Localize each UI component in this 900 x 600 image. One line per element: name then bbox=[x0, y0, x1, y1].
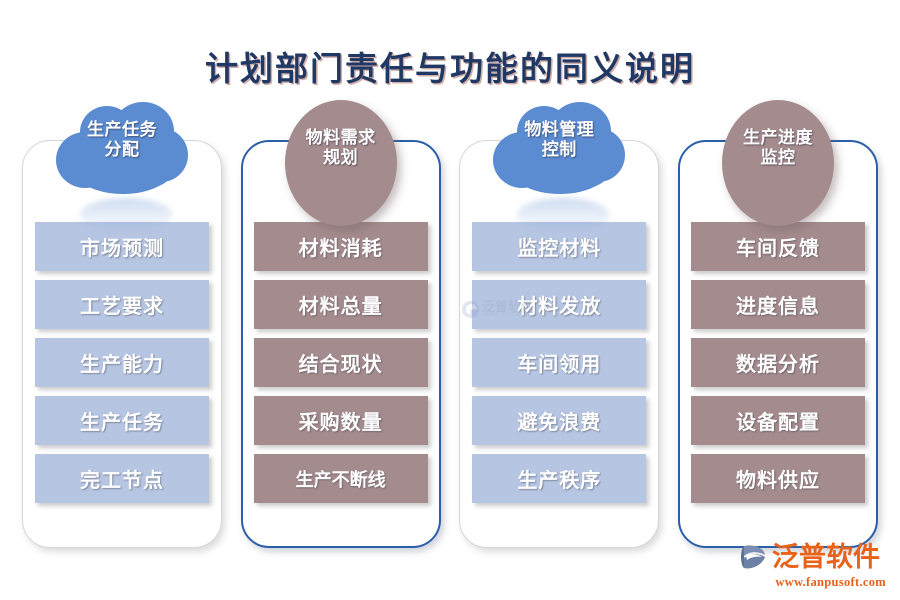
cloud-glow bbox=[80, 198, 172, 232]
column-3-header-badge: 物料管理 控制 bbox=[493, 102, 625, 206]
list-item[interactable]: 设备配置 bbox=[691, 396, 865, 445]
column-1: 生产任务 分配 市场预测 工艺要求 生产能力 生产任务 完工节点 bbox=[22, 140, 222, 552]
list-item[interactable]: 车间反馈 bbox=[691, 222, 865, 271]
column-4-header-badge: 生产进度 监控 bbox=[722, 100, 834, 226]
page-title: 计划部门责任与功能的同义说明 bbox=[0, 42, 900, 90]
column-1-header-label: 生产任务 分配 bbox=[56, 120, 188, 160]
column-1-header-line-1: 生产任务 bbox=[56, 120, 188, 140]
column-4-header-label: 生产进度 监控 bbox=[722, 128, 834, 168]
list-item[interactable]: 完工节点 bbox=[35, 454, 209, 503]
column-4-items: 车间反馈 进度信息 数据分析 设备配置 物料供应 bbox=[691, 222, 865, 512]
list-item[interactable]: 材料消耗 bbox=[254, 222, 428, 271]
list-item[interactable]: 材料发放 bbox=[472, 280, 646, 329]
column-3-items: 监控材料 材料发放 车间领用 避免浪费 生产秩序 bbox=[472, 222, 646, 512]
column-2-items: 材料消耗 材料总量 结合现状 采购数量 生产不断线 bbox=[254, 222, 428, 512]
list-item[interactable]: 进度信息 bbox=[691, 280, 865, 329]
list-item[interactable]: 工艺要求 bbox=[35, 280, 209, 329]
list-item[interactable]: 生产能力 bbox=[35, 338, 209, 387]
column-4: 生产进度 监控 车间反馈 进度信息 数据分析 设备配置 物料供应 bbox=[678, 140, 878, 552]
column-2-header-label: 物料需求 规划 bbox=[285, 128, 397, 168]
column-2-header-badge: 物料需求 规划 bbox=[285, 100, 397, 226]
fanpu-swoosh-icon bbox=[738, 542, 768, 572]
column-1-header-line-2: 分配 bbox=[56, 140, 188, 160]
column-1-items: 市场预测 工艺要求 生产能力 生产任务 完工节点 bbox=[35, 222, 209, 512]
column-3-header-label: 物料管理 控制 bbox=[493, 120, 625, 160]
cloud-glow bbox=[517, 198, 609, 232]
column-1-header-badge: 生产任务 分配 bbox=[56, 102, 188, 206]
column-4-header-line-2: 监控 bbox=[722, 148, 834, 168]
list-item[interactable]: 车间领用 bbox=[472, 338, 646, 387]
slide-canvas: 计划部门责任与功能的同义说明 生产任务 分配 市场预测 工艺要求 bbox=[0, 0, 900, 600]
columns-row: 生产任务 分配 市场预测 工艺要求 生产能力 生产任务 完工节点 物料需求 规划 bbox=[22, 140, 878, 552]
column-2-header-line-1: 物料需求 bbox=[285, 128, 397, 148]
list-item[interactable]: 数据分析 bbox=[691, 338, 865, 387]
list-item[interactable]: 生产不断线 bbox=[254, 454, 428, 503]
list-item[interactable]: 结合现状 bbox=[254, 338, 428, 387]
list-item[interactable]: 生产秩序 bbox=[472, 454, 646, 503]
list-item[interactable]: 采购数量 bbox=[254, 396, 428, 445]
column-3: 物料管理 控制 监控材料 材料发放 车间领用 避免浪费 生产秩序 bbox=[459, 140, 659, 552]
brand-logo-text: 泛普软件 bbox=[772, 544, 880, 571]
brand-logo-row: 泛普软件 bbox=[738, 540, 886, 574]
brand-logo-url: www.fanpusoft.com bbox=[738, 575, 886, 590]
list-item[interactable]: 物料供应 bbox=[691, 454, 865, 503]
column-3-header-line-1: 物料管理 bbox=[493, 120, 625, 140]
column-2: 物料需求 规划 材料消耗 材料总量 结合现状 采购数量 生产不断线 bbox=[241, 140, 441, 552]
column-4-header-line-1: 生产进度 bbox=[722, 128, 834, 148]
list-item[interactable]: 材料总量 bbox=[254, 280, 428, 329]
column-2-header-line-2: 规划 bbox=[285, 148, 397, 168]
brand-logo: 泛普软件 www.fanpusoft.com bbox=[738, 540, 886, 592]
column-3-header-line-2: 控制 bbox=[493, 140, 625, 160]
list-item[interactable]: 生产任务 bbox=[35, 396, 209, 445]
list-item[interactable]: 避免浪费 bbox=[472, 396, 646, 445]
